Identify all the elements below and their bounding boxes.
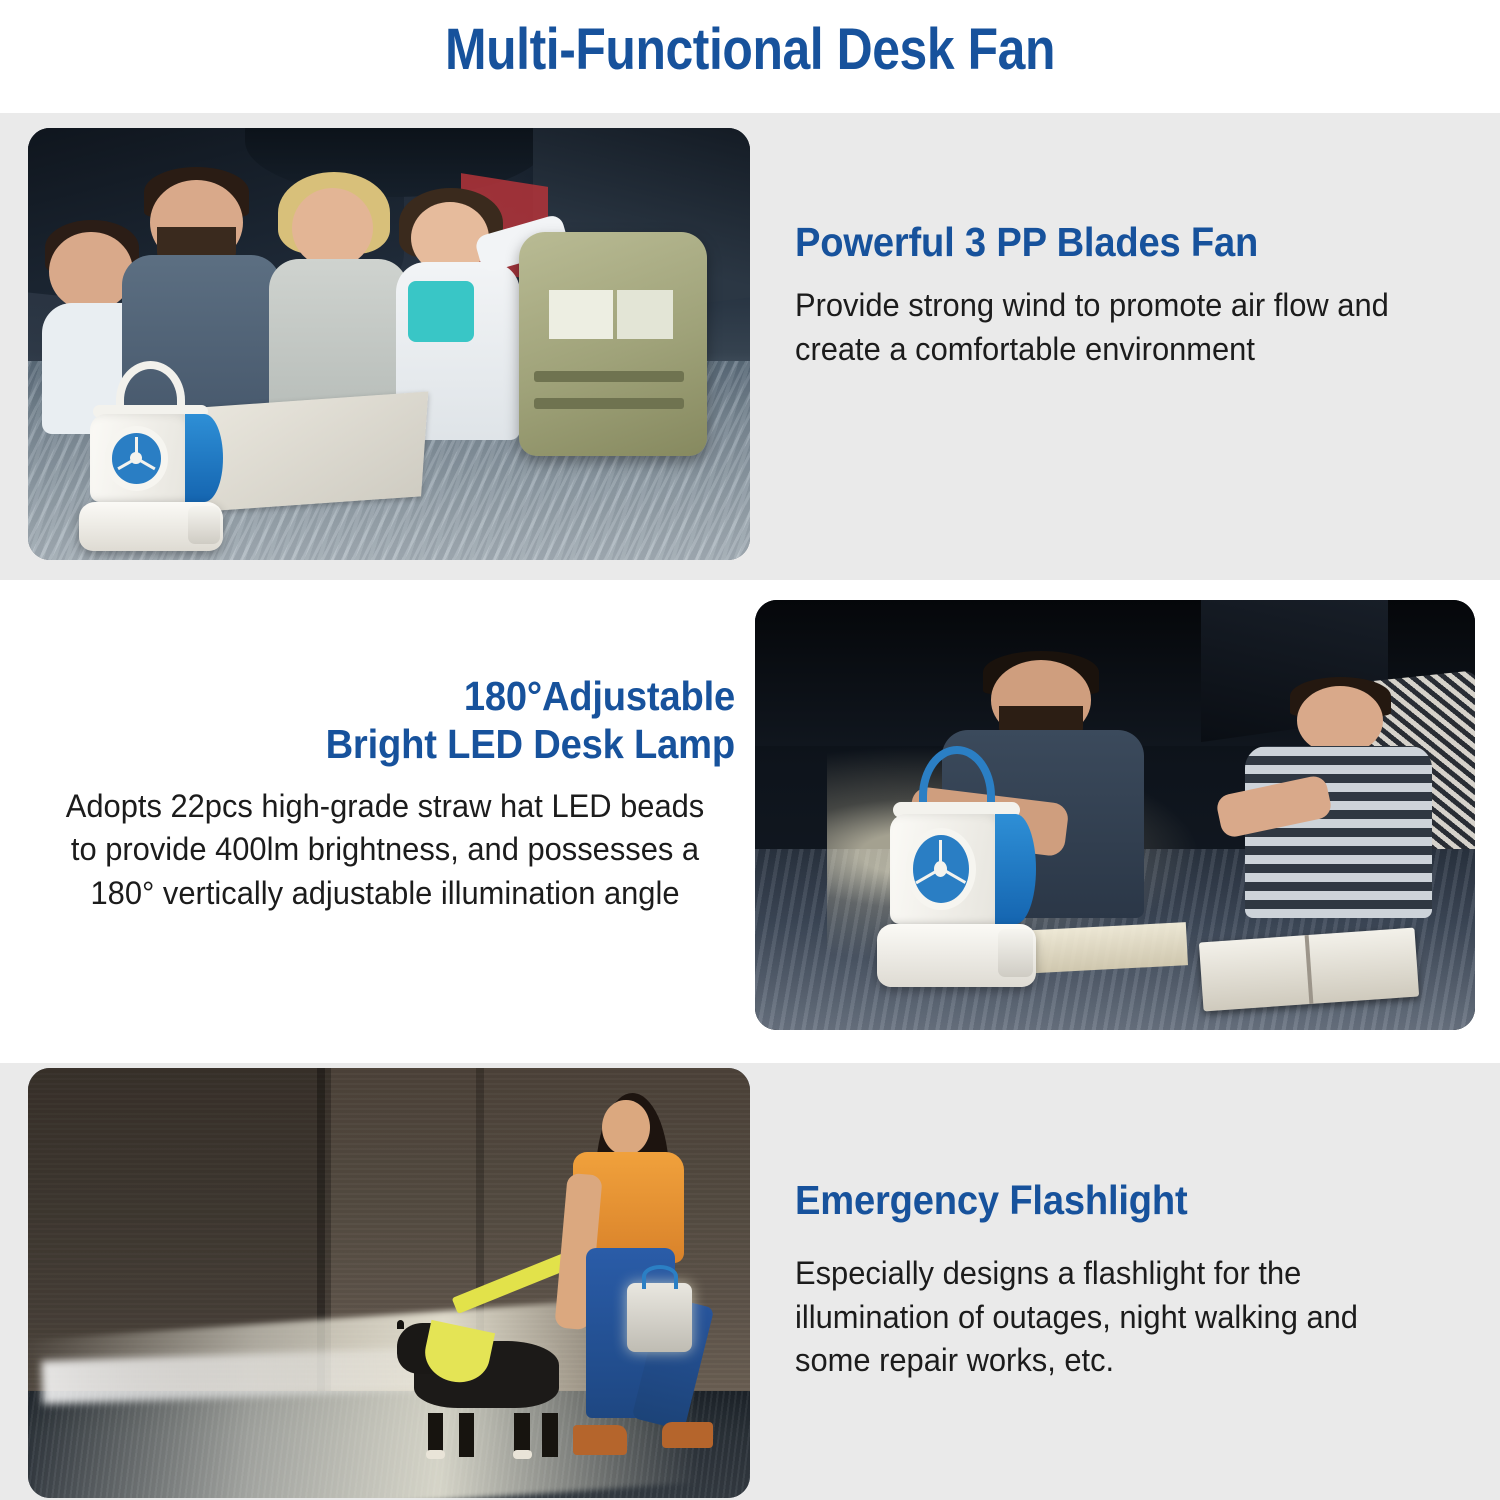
woman-shoe-rear <box>662 1422 713 1448</box>
mother-head <box>292 188 373 268</box>
girl-teal-top <box>408 281 474 342</box>
paper-map <box>191 392 429 513</box>
dog-paw-2 <box>513 1450 532 1459</box>
backpack-strap-upper <box>534 371 684 382</box>
backpack-patch-left <box>549 290 613 339</box>
page-title: Multi-Functional Desk Fan <box>105 16 1395 83</box>
product-desk-fan-flashlight-mode <box>627 1283 692 1352</box>
person-son-reading <box>1245 686 1432 901</box>
backpack <box>519 232 707 457</box>
woman-head <box>602 1100 650 1155</box>
product-infographic: Multi-Functional Desk Fan <box>0 0 1500 1500</box>
section-3-photo-night-walk <box>28 1068 750 1498</box>
dog-ear <box>397 1320 405 1328</box>
section-2-text-block: 180°Adjustable Bright LED Desk Lamp Adop… <box>35 672 735 915</box>
section-1-heading: Powerful 3 PP Blades Fan <box>795 218 1409 266</box>
section-3-heading: Emergency Flashlight <box>795 1176 1409 1224</box>
son-striped-shirt <box>1245 746 1432 918</box>
section-1-body: Provide strong wind to promote air flow … <box>795 284 1422 371</box>
boy-head <box>49 232 132 311</box>
fan-blue-accent-ring <box>185 414 223 501</box>
section-1-text-block: Powerful 3 PP Blades Fan Provide strong … <box>795 218 1455 371</box>
fan-led-lamp-head <box>998 929 1033 977</box>
fan-grille <box>906 828 976 910</box>
fan-grille <box>105 426 169 491</box>
dog-leg-2 <box>459 1413 475 1457</box>
backpack-strap-lower <box>534 398 684 409</box>
dog-paw-1 <box>426 1450 445 1459</box>
product-desk-fan <box>79 361 223 551</box>
fan-handle <box>919 746 995 809</box>
section-2-photo-reading-tent <box>755 600 1475 1030</box>
woman-shoe-front <box>573 1425 627 1455</box>
section-2-heading-line-1: 180°Adjustable <box>84 672 735 720</box>
section-1-photo-family-tent <box>28 128 750 560</box>
fan-hub <box>934 861 947 877</box>
section-3-text-block: Emergency Flashlight Especially designs … <box>795 1176 1455 1383</box>
fan-flashlight-lens <box>188 506 220 544</box>
section-2-body: Adopts 22pcs high-grade straw hat LED be… <box>53 785 718 916</box>
section-2-heading-line-2: Bright LED Desk Lamp <box>84 720 735 768</box>
backpack-patch-right <box>617 290 673 339</box>
son-head <box>1297 686 1383 755</box>
fan-handle <box>116 361 185 410</box>
person-woman-walking <box>548 1085 707 1455</box>
product-desk-fan-lamp-mode <box>877 746 1035 987</box>
fan-blue-accent-ring <box>995 814 1036 925</box>
section-3-body: Especially designs a flashlight for the … <box>795 1252 1422 1383</box>
